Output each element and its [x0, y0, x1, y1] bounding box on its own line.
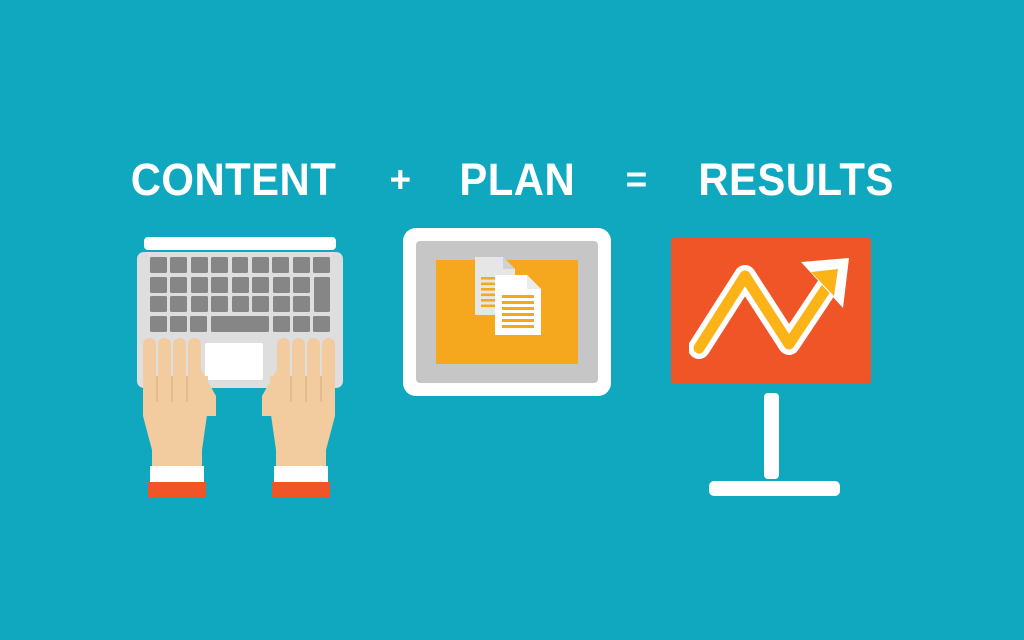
laptop-typing-illustration	[130, 230, 350, 500]
monitor-base	[709, 481, 840, 496]
headline-equation: CONTENT + PLAN = RESULTS	[0, 148, 1024, 210]
keyboard-key	[211, 277, 228, 293]
finger-crease	[156, 376, 158, 402]
document-front	[495, 275, 541, 335]
keyboard-key	[232, 257, 249, 273]
headline-term-results: RESULTS	[699, 157, 894, 202]
keyboard-key	[191, 257, 208, 273]
finger-crease	[171, 376, 173, 402]
wrist	[276, 442, 326, 470]
headline-term-plan: PLAN	[460, 157, 576, 202]
arrow-line	[699, 276, 833, 348]
tablet-documents-illustration	[403, 228, 611, 396]
keyboard-key	[252, 257, 269, 273]
keyboard-key	[293, 277, 310, 293]
keyboard-key	[170, 296, 187, 312]
keyboard-row	[150, 277, 310, 293]
poster-canvas: CONTENT + PLAN = RESULTS	[0, 0, 1024, 640]
keyboard-key	[150, 277, 167, 293]
keyboard-key	[293, 257, 310, 273]
keyboard-key	[170, 257, 187, 273]
headline-term-content: CONTENT	[130, 157, 336, 202]
keyboard-row	[150, 296, 310, 312]
left-hand	[142, 338, 220, 498]
wrist	[152, 442, 202, 470]
keyboard-key	[313, 257, 330, 273]
keyboard-key	[211, 257, 228, 273]
keyboard-key	[190, 316, 207, 332]
keyboard-key	[232, 277, 249, 293]
keyboard-key	[191, 296, 208, 312]
keyboard-key-enter	[314, 277, 330, 312]
keyboard-key	[293, 296, 310, 312]
headline-operator-plus: +	[390, 161, 412, 198]
sleeve	[148, 482, 206, 498]
finger-crease	[186, 376, 188, 402]
keyboard-key	[150, 296, 167, 312]
laptop-keyboard	[150, 257, 330, 335]
finger-crease	[320, 376, 322, 402]
finger-crease	[305, 376, 307, 402]
keyboard-key-spacebar	[211, 316, 270, 332]
keyboard-key	[313, 316, 330, 332]
right-hand	[258, 338, 336, 498]
keyboard-key	[150, 257, 167, 273]
shirt-cuff	[150, 466, 204, 484]
keyboard-key	[150, 316, 167, 332]
keyboard-key	[252, 277, 269, 293]
hand-back	[270, 376, 335, 450]
keyboard-key	[273, 277, 290, 293]
headline-operator-equals: =	[626, 161, 648, 198]
finger-crease	[290, 376, 292, 402]
monitor-stand	[764, 393, 779, 479]
keyboard-key	[232, 296, 249, 312]
keyboard-key	[191, 277, 208, 293]
documents-icon	[473, 255, 545, 337]
keyboard-key	[170, 316, 187, 332]
keyboard-row	[150, 316, 330, 332]
monitor-growth-chart-illustration	[671, 238, 883, 500]
laptop-lid	[144, 237, 336, 250]
keyboard-key	[252, 296, 269, 312]
hand-back	[143, 376, 208, 450]
shirt-cuff	[274, 466, 328, 484]
keyboard-key	[272, 257, 289, 273]
keyboard-key	[293, 316, 310, 332]
keyboard-key	[211, 296, 228, 312]
keyboard-key	[273, 296, 290, 312]
keyboard-key	[273, 316, 290, 332]
keyboard-row	[150, 257, 330, 273]
keyboard-key	[170, 277, 187, 293]
sleeve	[272, 482, 330, 498]
growth-arrow-chart	[689, 256, 853, 366]
